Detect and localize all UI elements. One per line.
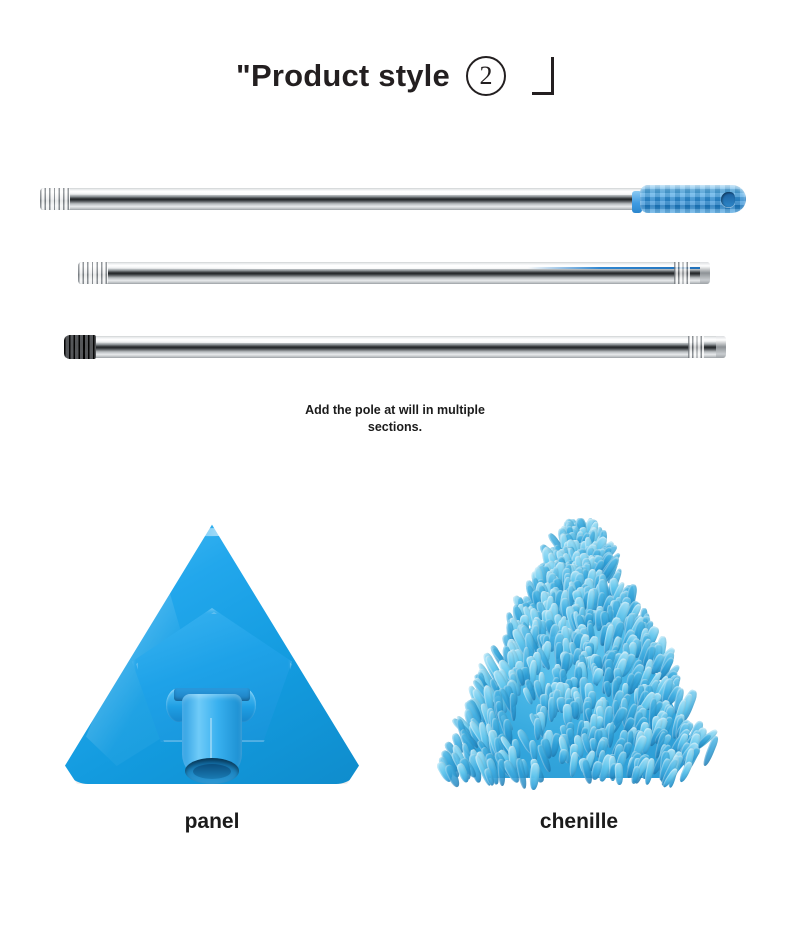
title-text: "Product style xyxy=(236,58,450,94)
chenille-noodle xyxy=(509,692,516,720)
socket-seam xyxy=(210,718,212,762)
pole-end-cap xyxy=(716,336,726,358)
circled-number-badge: 2 xyxy=(466,56,506,96)
chenille-noodle xyxy=(529,763,540,791)
blue-grip-handle xyxy=(640,185,746,213)
ribbed-collar-icon xyxy=(674,262,690,284)
threaded-silver-tip-icon xyxy=(40,188,70,210)
panel-label: panel xyxy=(62,810,362,834)
chenille-product-image xyxy=(434,512,724,794)
chenille-noodle xyxy=(534,718,541,740)
hang-hole-icon xyxy=(721,192,735,207)
threaded-silver-tip-icon xyxy=(78,262,108,284)
panel-product-image xyxy=(62,522,362,792)
pole-extension-lower xyxy=(64,336,726,358)
chenille-label: chenille xyxy=(434,810,724,834)
pole-highlight xyxy=(60,191,680,195)
chenille-noodle xyxy=(547,697,554,722)
pole-extension-middle xyxy=(78,262,710,284)
pole-with-grip-handle xyxy=(40,188,746,210)
threaded-black-tip-icon xyxy=(64,335,96,359)
socket-opening xyxy=(185,758,239,784)
page-title: "Product style 2 xyxy=(0,56,790,96)
ribbed-collar-icon xyxy=(688,336,704,358)
pole-caption: Add the pole at will in multiple section… xyxy=(0,402,790,436)
pole-caption-text: Add the pole at will in multiple section… xyxy=(288,402,503,436)
corner-bracket-icon xyxy=(532,57,554,95)
plate-edge-highlight xyxy=(158,527,278,537)
pole-highlight xyxy=(94,339,694,343)
product-detail-image: "Product style 2 Add the pole at will in… xyxy=(0,0,790,943)
chenille-noodle xyxy=(614,762,623,784)
pole-end-cap xyxy=(700,262,710,284)
